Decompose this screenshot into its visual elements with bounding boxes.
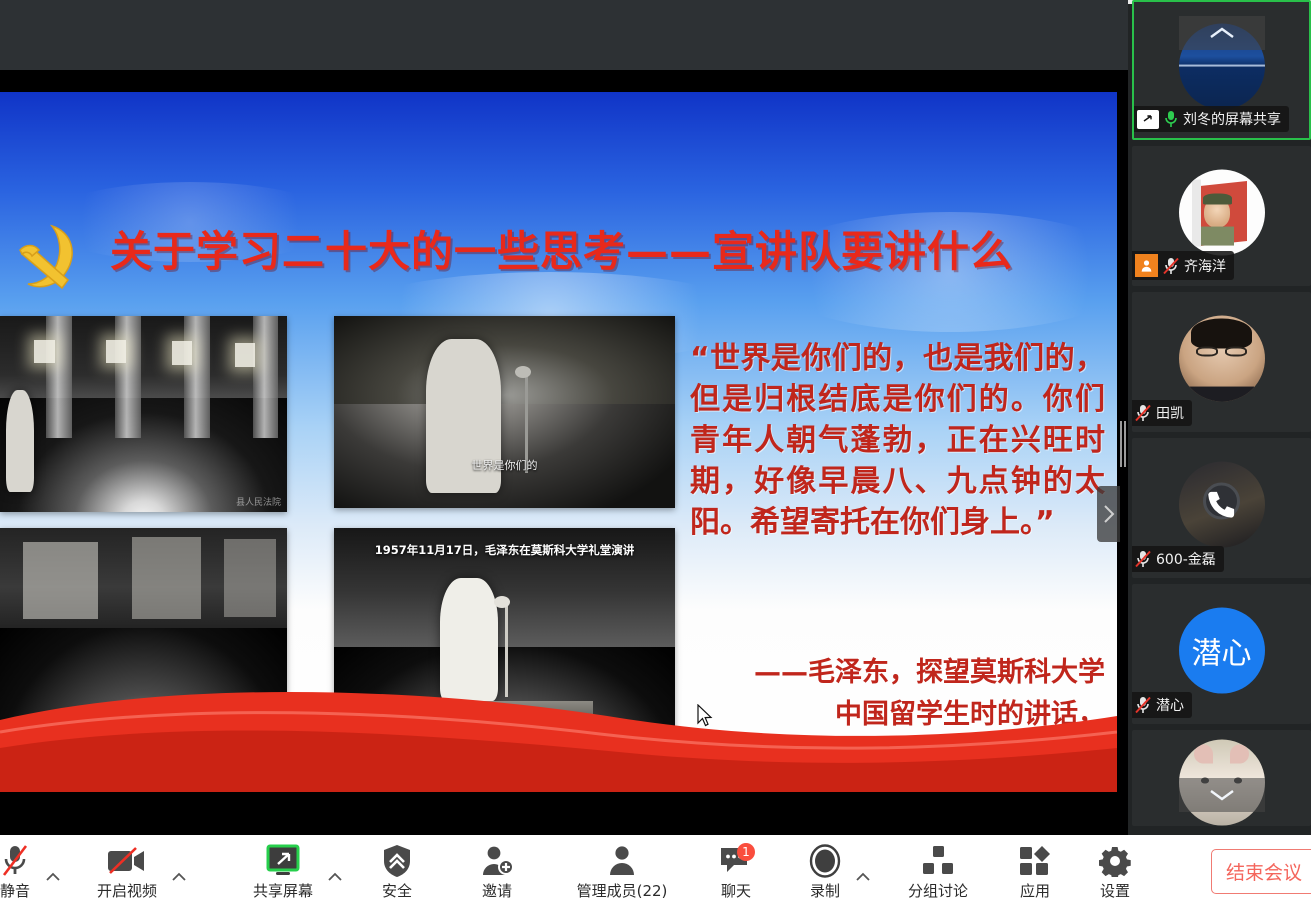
zoom-meeting-window: 关于学习二十大的一些思考——宣讲队要讲什么 县人民法院 (0, 0, 1311, 905)
toolbar-security-button[interactable]: 安全 (368, 839, 426, 901)
photo-caption: 世界是你们的 (334, 457, 675, 473)
toolbar-invite-button[interactable]: 邀请 (464, 839, 530, 901)
toolbar-label: 聊天 (721, 880, 751, 901)
participant-namebar: 齐海洋 (1132, 251, 1234, 280)
presentation-slide: 关于学习二十大的一些思考——宣讲队要讲什么 县人民法院 (0, 92, 1117, 792)
microphone-icon (1164, 110, 1178, 128)
record-options-caret[interactable] (854, 853, 872, 899)
participant-name: 600-金磊 (1156, 549, 1216, 569)
chevron-up-icon (172, 872, 186, 881)
participants-icon (606, 843, 638, 879)
participant-tile[interactable]: 潜心 潜心 (1132, 584, 1311, 724)
participant-namebar: 田凯 (1132, 400, 1192, 426)
participant-name: 齐海洋 (1184, 256, 1226, 276)
chevron-up-icon (1209, 26, 1235, 40)
slide-title: 关于学习二十大的一些思考——宣讲队要讲什么 (110, 218, 1013, 279)
toolbar-label: 静音 (0, 880, 30, 901)
slide-photo-mao-speaking: 世界是你们的 (334, 316, 675, 508)
avatar-initials: 潜心 (1192, 629, 1252, 673)
avatar (1179, 170, 1265, 256)
ccp-emblem-icon (12, 220, 82, 302)
mouse-cursor (697, 704, 713, 728)
toolbar-share-screen-button[interactable]: 共享屏幕 (240, 839, 326, 901)
toolbar-apps-button[interactable]: 应用 (1006, 839, 1064, 901)
toolbar-label: 设置 (1100, 880, 1130, 901)
avatar (1179, 316, 1265, 402)
rail-scroll-up-button[interactable] (1179, 16, 1265, 50)
microphone-muted-icon (1135, 404, 1151, 422)
participant-name: 刘冬的屏幕共享 (1183, 109, 1281, 129)
video-options-caret[interactable] (170, 853, 188, 899)
chat-unread-badge: 1 (737, 843, 755, 861)
record-icon (808, 843, 842, 879)
microphone-muted-icon (1135, 550, 1151, 568)
shield-icon (382, 843, 412, 879)
end-meeting-button[interactable]: 结束会议 (1211, 849, 1311, 894)
toolbar-label: 安全 (382, 880, 412, 901)
participant-name: 潜心 (1156, 695, 1184, 715)
toolbar-label: 应用 (1020, 880, 1050, 901)
participant-rail[interactable]: 刘冬的屏幕共享 (1128, 4, 1311, 835)
avatar: 潜心 (1179, 608, 1265, 694)
rail-scroll-down-button[interactable] (1179, 778, 1265, 812)
microphone-muted-icon (1135, 696, 1151, 714)
stage-top-strip (0, 0, 1128, 70)
screen-share-icon (1137, 110, 1159, 129)
chat-icon: 1 (719, 843, 753, 879)
toolbar-settings-button[interactable]: 设置 (1086, 839, 1144, 901)
next-slide-button[interactable] (1097, 486, 1120, 542)
participant-namebar: 刘冬的屏幕共享 (1134, 106, 1289, 132)
share-screen-icon (262, 843, 304, 879)
toolbar-participants-button[interactable]: 管理成员(22) (564, 839, 680, 901)
microphone-muted-icon (1, 843, 29, 879)
chevron-up-icon (46, 872, 60, 881)
invite-user-icon (480, 843, 514, 879)
toolbar-video-button[interactable]: 开启视频 (84, 839, 170, 901)
toolbar-label: 管理成员(22) (577, 880, 668, 901)
red-ribbon-decor (0, 662, 1117, 792)
toolbar-label: 分组讨论 (908, 880, 968, 901)
slide-quote: “世界是你们的，也是我们的，但是归根结底是你们的。你们青年人朝气蓬勃，正在兴旺时… (690, 338, 1105, 543)
video-off-icon (106, 843, 148, 879)
toolbar-label: 邀请 (482, 880, 512, 901)
photo-caption: 1957年11月17日，毛泽东在莫斯科大学礼堂演讲 (334, 542, 675, 558)
slide-photo-hall-crowd: 县人民法院 (0, 316, 287, 512)
toolbar-breakout-button[interactable]: 分组讨论 (892, 839, 984, 901)
participant-tile[interactable]: 刘冬的屏幕共享 (1132, 0, 1311, 140)
participant-name: 田凯 (1156, 403, 1184, 423)
mute-options-caret[interactable] (44, 853, 62, 899)
shared-screen-stage[interactable]: 关于学习二十大的一些思考——宣讲队要讲什么 县人民法院 (0, 70, 1128, 835)
participant-tile[interactable]: 齐海洋 (1132, 146, 1311, 286)
toolbar-chat-button[interactable]: 1 聊天 (706, 839, 766, 901)
microphone-muted-icon (1163, 257, 1179, 275)
photo-watermark: 县人民法院 (236, 495, 281, 508)
chevron-right-icon (1103, 504, 1115, 524)
phone-icon (1204, 487, 1238, 521)
toolbar-label: 开启视频 (97, 880, 157, 901)
participant-tile[interactable]: 600-金磊 (1132, 438, 1311, 578)
participant-tile[interactable] (1132, 730, 1311, 826)
chevron-down-icon (1209, 788, 1235, 802)
gear-icon (1099, 843, 1131, 879)
toolbar-record-button[interactable]: 录制 (796, 839, 854, 901)
stage-scrollbar[interactable] (1118, 418, 1128, 470)
participant-namebar: 600-金磊 (1132, 546, 1224, 572)
apps-icon (1018, 843, 1052, 879)
share-options-caret[interactable] (326, 853, 344, 899)
participant-namebar: 潜心 (1132, 692, 1192, 718)
chevron-up-icon (328, 872, 342, 881)
host-badge (1135, 254, 1158, 277)
chevron-up-icon (856, 872, 870, 881)
breakout-rooms-icon (921, 843, 955, 879)
participant-tile[interactable]: 田凯 (1132, 292, 1311, 432)
toolbar-label: 录制 (810, 880, 840, 901)
toolbar-label: 共享屏幕 (253, 880, 313, 901)
meeting-toolbar: 静音 开启视频 (0, 835, 1311, 905)
toolbar-mute-button[interactable]: 静音 (0, 839, 44, 901)
avatar (1179, 462, 1265, 548)
